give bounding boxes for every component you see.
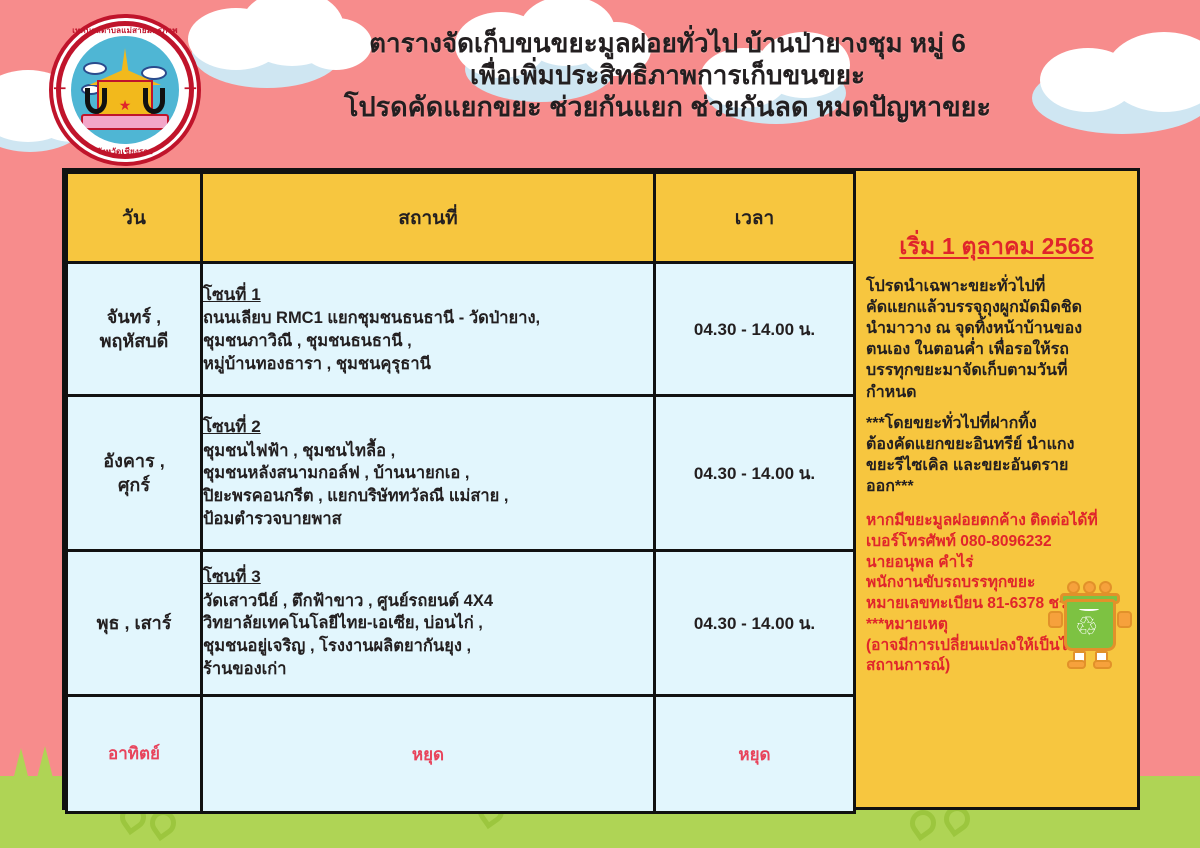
logo-base-icon [81,114,169,130]
collection-schedule-table: วัน สถานที่ เวลา จันทร์ , พฤหัสบดี โซนที… [65,171,856,814]
table-row: จันทร์ , พฤหัสบดี โซนที่ 1 ถนนเลียบ RMC1… [67,263,855,396]
logo-emblem-disc: ★ [71,36,179,144]
column-header-place: สถานที่ [202,173,655,263]
panel-instructions: โปรดนำเฉพาะขยะทั่วไปที่ คัดแยกแล้วบรรจุถ… [866,276,1127,403]
cell-place: หยุด [202,696,655,813]
cell-day: จันทร์ , พฤหัสบดี [67,263,202,396]
column-header-day: วัน [67,173,202,263]
table-row: พุธ , เสาร์ โซนที่ 3 วัดเสาวนีย์ , ตึกฟ้… [67,551,855,696]
cell-place: โซนที่ 2 ชุมชนไฟฟ้า , ชุมชนไทลื้อ , ชุมช… [202,396,655,551]
mascot-arm-left-icon [1048,611,1063,628]
mascot-foot-right-icon [1093,660,1112,669]
cell-time: หยุด [655,696,855,813]
title-line-3: โปรดคัดแยกขยะ ช่วยกันแยก ช่วยกันลด หมดปั… [205,91,1130,124]
logo-naga-right-icon [143,88,165,114]
zone-label: โซนที่ 2 [203,415,653,438]
recycle-bin-mascot-icon: ♲ [1047,577,1133,669]
place-list: ชุมชนไฟฟ้า , ชุมชนไทลื้อ , ชุมชนหลังสนาม… [203,442,509,528]
cell-day: อาทิตย์ [67,696,202,813]
mascot-arm-right-icon [1117,611,1132,628]
cell-day: พุธ , เสาร์ [67,551,202,696]
cell-time: 04.30 - 14.00 น. [655,551,855,696]
zone-label: โซนที่ 1 [203,283,653,306]
title-line-1: ตารางจัดเก็บขนขยะมูลฝอยทั่วไป บ้านป่ายาง… [205,28,1130,60]
mascot-foot-left-icon [1067,660,1086,669]
logo-cross-right-icon: ✛ [184,82,197,98]
cell-time: 04.30 - 14.00 น. [655,263,855,396]
cell-place: โซนที่ 1 ถนนเลียบ RMC1 แยกชุมชนธนธานี - … [202,263,655,396]
table-row: อังคาร , ศุกร์ โซนที่ 2 ชุมชนไฟฟ้า , ชุม… [67,396,855,551]
logo-bottom-text: จังหวัดเชียงราย [49,145,201,158]
panel-sorting-note: ***โดยขยะทั่วไปที่ฝากทิ้ง ต้องคัดแยกขยะอ… [866,413,1127,497]
panel-start-date-heading: เริ่ม 1 ตุลาคม 2568 [866,229,1127,265]
logo-cross-left-icon: ✛ [53,82,66,98]
logo-naga-left-icon [85,88,107,114]
place-list: วัดเสาวนีย์ , ตึกฟ้าขาว , ศูนย์รถยนต์ 4X… [203,592,493,678]
grass-blade [34,746,56,790]
poster-title: ตารางจัดเก็บขนขยะมูลฝอยทั่วไป บ้านป่ายาง… [205,28,1130,124]
poster-canvas: ★ เทศบาลตำบลแม่สายมิตรภาพ จังหวัดเชียงรา… [0,0,1200,848]
announcement-panel: เริ่ม 1 ตุลาคม 2568 โปรดนำเฉพาะขยะทั่วไป… [856,171,1137,807]
cell-day: อังคาร , ศุกร์ [67,396,202,551]
grass-blade [10,748,32,792]
schedule-table-container: วัน สถานที่ เวลา จันทร์ , พฤหัสบดี โซนที… [62,168,1140,810]
grass-swirl [905,805,941,841]
logo-star-icon: ★ [119,98,132,112]
table-row: อาทิตย์ หยุด หยุด [67,696,855,813]
municipality-logo: ★ เทศบาลตำบลแม่สายมิตรภาพ จังหวัดเชียงรา… [49,14,201,166]
table-header-row: วัน สถานที่ เวลา [67,173,855,263]
place-list: ถนนเลียบ RMC1 แยกชุมชนธนธานี - วัดป่ายาง… [203,309,540,373]
cell-place: โซนที่ 3 วัดเสาวนีย์ , ตึกฟ้าขาว , ศูนย์… [202,551,655,696]
column-header-time: เวลา [655,173,855,263]
logo-top-text: เทศบาลตำบลแม่สายมิตรภาพ [49,24,201,37]
cell-time: 04.30 - 14.00 น. [655,396,855,551]
zone-label: โซนที่ 3 [203,565,653,588]
recycle-symbol-icon: ♲ [1075,613,1098,639]
title-line-2: เพื่อเพิ่มประสิทธิภาพการเก็บขนขยะ [205,60,1130,92]
